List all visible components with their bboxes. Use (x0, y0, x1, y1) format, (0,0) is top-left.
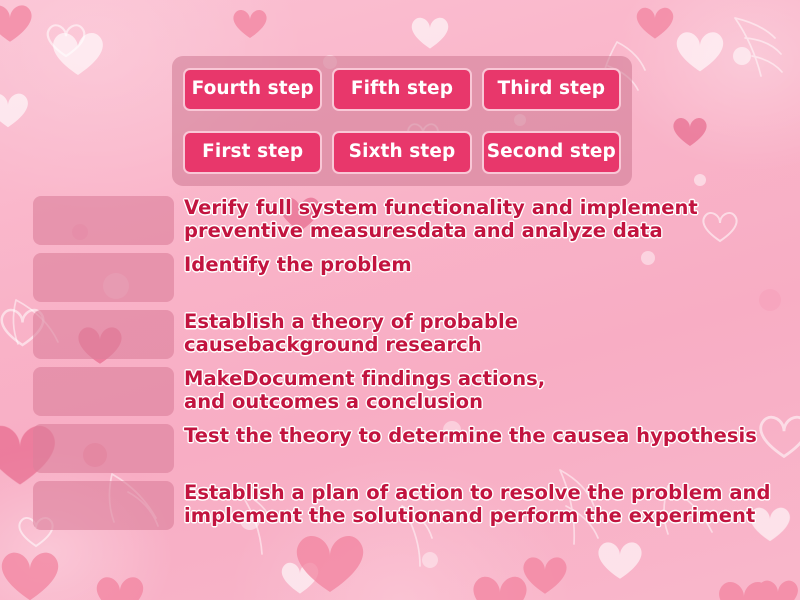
step-tile-second-step[interactable]: Second step (482, 131, 621, 174)
drop-slot-4[interactable] (33, 367, 174, 416)
answer-list: Verify full system functionality and imp… (0, 196, 800, 542)
drop-slot-5[interactable] (33, 424, 174, 473)
tile-row-2: First step Sixth step Second step (183, 131, 621, 174)
step-tile-fifth-step[interactable]: Fifth step (332, 68, 471, 111)
answer-row: Establish a plan of action to resolve th… (0, 481, 800, 530)
answer-text-2: Identify the problem (184, 253, 412, 277)
step-tiles-tray: Fourth step Fifth step Third step First … (172, 56, 632, 186)
drop-slot-1[interactable] (33, 196, 174, 245)
answer-text-4: MakeDocument findings actions, and outco… (184, 367, 545, 414)
answer-text-3: Establish a theory of probable causeback… (184, 310, 518, 357)
answer-row: MakeDocument findings actions, and outco… (0, 367, 800, 416)
answer-row: Test the theory to determine the causea … (0, 424, 800, 473)
step-tile-sixth-step[interactable]: Sixth step (332, 131, 471, 174)
step-tile-fourth-step[interactable]: Fourth step (183, 68, 322, 111)
answer-row: Verify full system functionality and imp… (0, 196, 800, 245)
drop-slot-3[interactable] (33, 310, 174, 359)
drop-slot-6[interactable] (33, 481, 174, 530)
drop-slot-2[interactable] (33, 253, 174, 302)
answer-text-6: Establish a plan of action to resolve th… (184, 481, 770, 528)
answer-row: Establish a theory of probable causeback… (0, 310, 800, 359)
step-tile-third-step[interactable]: Third step (482, 68, 621, 111)
answer-row: Identify the problem (0, 253, 800, 302)
tile-row-1: Fourth step Fifth step Third step (183, 68, 621, 111)
step-tile-first-step[interactable]: First step (183, 131, 322, 174)
answer-text-1: Verify full system functionality and imp… (184, 196, 698, 243)
answer-text-5: Test the theory to determine the causea … (184, 424, 757, 448)
